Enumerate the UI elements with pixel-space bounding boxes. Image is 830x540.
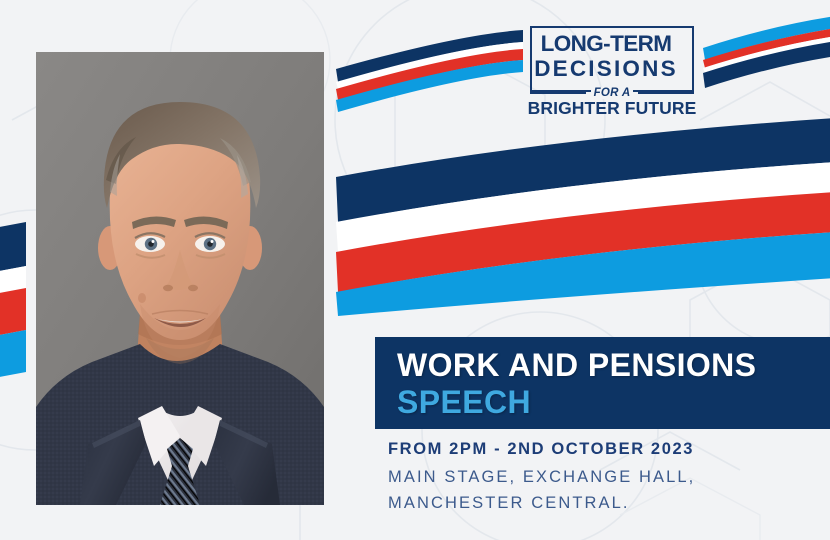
top-right-swoosh [703, 16, 830, 88]
logo-line-long-term: LONG-TERM [524, 31, 688, 57]
event-time: FROM 2PM - 2ND OCTOBER 2023 [388, 440, 818, 459]
logo-rule-right [638, 91, 694, 94]
headline-subtitle: SPEECH [397, 385, 830, 420]
event-venue-line-1: MAIN STAGE, EXCHANGE HALL, [388, 465, 818, 491]
headline-title: WORK AND PENSIONS [397, 349, 830, 381]
headline-block: WORK AND PENSIONS SPEECH [375, 337, 830, 429]
logo-rule-left [530, 91, 586, 94]
logo-connector-for-a: FOR A [591, 87, 634, 99]
event-graphic-canvas: LONG-TERM DECISIONS FOR A BRIGHTER FUTUR… [0, 0, 830, 540]
logo-line-decisions: DECISIONS [524, 56, 688, 82]
event-venue-line-2: MANCHESTER CENTRAL. [388, 491, 818, 517]
logo-line-brighter-future: BRIGHTER FUTURE [524, 98, 700, 119]
top-left-swoosh [336, 30, 523, 112]
speaker-portrait [36, 52, 324, 505]
event-details: FROM 2PM - 2ND OCTOBER 2023 MAIN STAGE, … [388, 440, 818, 516]
main-ribbon [336, 118, 830, 316]
long-term-decisions-logo: LONG-TERM DECISIONS FOR A BRIGHTER FUTUR… [524, 26, 700, 112]
event-venue: MAIN STAGE, EXCHANGE HALL, MANCHESTER CE… [388, 465, 818, 516]
left-edge-ribbon [0, 222, 26, 378]
